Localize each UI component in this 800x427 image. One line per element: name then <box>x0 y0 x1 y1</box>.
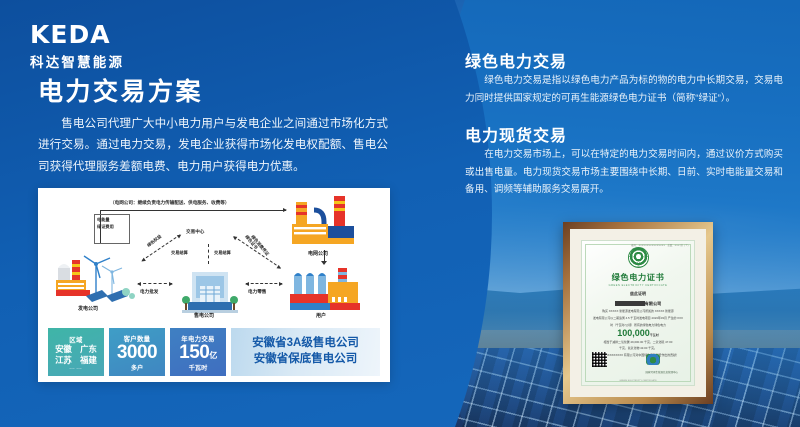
section-heading-green-trading: 绿色电力交易 <box>465 48 567 72</box>
certificate-company-suffix: 有限公司 <box>645 301 662 306</box>
power-trading-diagram: （电网公司：继续负责电力传输配送、供电服务、收费等） 电能量 绿证费用 交易中心… <box>38 188 390 322</box>
certificate-title-en: GREEN ELECTRICITY CERTIFICATE <box>609 284 668 287</box>
diagram-left-note-l2: 绿证费用 <box>97 224 114 229</box>
brand-logo-subtitle: 科达智慧能源 <box>30 51 124 71</box>
stat-credentials-line2: 安徽省保底售电公司 <box>254 352 358 368</box>
diagram-settle-left: 交易结算 <box>171 250 188 255</box>
stat-region-caption: 区域 <box>69 335 82 344</box>
stat-region-line1: 安徽 广东 <box>55 344 97 355</box>
stat-annual-trading: 年电力交易 150亿 千瓦时 <box>170 328 226 376</box>
certificate-seal-icon <box>628 247 649 268</box>
certificate-qr-code-icon <box>592 352 607 367</box>
stat-region-line2: 江苏 福建 <box>55 355 97 366</box>
node-generator-caption: 发电公司 <box>78 305 98 312</box>
certificate-body-line1: 购买 XXXXX 新能源发电有限公司所属的 XXXXX 新能源 <box>586 309 690 313</box>
certificate-footer: GREEN ELECTRICITY CERTIFICATE <box>619 380 656 382</box>
certificate-mat: 编号：XXXXXXXXXXXXXXXX 总量：XXX 份（个） 绿色电力证书 G… <box>570 229 706 397</box>
diagram-retail-label: 电力零售 <box>248 289 266 295</box>
generator-plant-icon <box>56 246 138 302</box>
certificate-company-mask: XXXXXXXXXX <box>615 301 645 306</box>
brand-logo: KEDA 科达智慧能源 <box>30 22 124 71</box>
certificate-subtitle: 兹此证明 <box>630 291 646 297</box>
diagram-settle-right: 交易结算 <box>214 250 231 255</box>
green-certificate-photo: 编号：XXXXXXXXXXXXXXXX 总量：XXX 份（个） 绿色电力证书 G… <box>563 222 713 404</box>
certificate-amount-unit: 千瓦时 <box>650 333 659 337</box>
brand-logo-mark: KEDA <box>30 22 124 47</box>
certificate-frame: 编号：XXXXXXXXXXXXXXXX 总量：XXX 份（个） 绿色电力证书 G… <box>563 222 713 404</box>
certificate-title: 绿色电力证书 <box>612 271 665 283</box>
arrow-to-grid <box>100 210 286 211</box>
stats-band: 区域 安徽 广东 江苏 福建 …… 客户数量 3000 多户 年电力交易 150… <box>48 328 380 376</box>
arrow-wholesale <box>138 283 172 284</box>
certificate-body-line2: 发电有限公司以二期追溯 4.5 千瓦时发电项目 2023年03月 产生的 XXX <box>586 316 690 320</box>
node-grid-caption: 电网公司 <box>308 250 328 257</box>
diagram-center-label: 交易中心 <box>186 229 204 235</box>
stat-region-dots: …… <box>69 365 83 371</box>
certificate-amount-wrap: 100,000千瓦时 <box>617 328 659 338</box>
stat-customers: 客户数量 3000 多户 <box>109 328 165 376</box>
section-heading-spot-trading: 电力现货交易 <box>465 122 567 146</box>
node-retailer-caption: 售电公司 <box>194 312 214 319</box>
slide-canvas: KEDA 科达智慧能源 电力交易方案 售电公司代理广大中小电力用户与发电企业之间… <box>0 0 800 427</box>
stat-credentials-line1: 安徽省3A级售电公司 <box>252 336 359 352</box>
diagram-top-note: （电网公司：继续负责电力传输配送、供电服务、收费等） <box>110 200 229 206</box>
certificate-amount: 100,000 <box>617 328 650 338</box>
section-body-green-trading: 绿色电力交易是指以绿色电力产品为标的物的电力中长期交易，交易电力同时提供国家规定… <box>465 72 783 107</box>
settlement-axis <box>208 244 209 264</box>
certificate-company: XXXXXXXXXX有限公司 <box>615 301 662 307</box>
user-factory-icon <box>288 264 364 312</box>
stat-customers-value: 3000 <box>117 343 157 363</box>
grid-company-icon <box>290 196 360 248</box>
page-title: 电力交易方案 <box>38 72 203 108</box>
retailer-building-icon <box>178 270 242 314</box>
diagram-card: （电网公司：继续负责电力传输配送、供电服务、收费等） 电能量 绿证费用 交易中心… <box>38 188 390 382</box>
section-body-spot-trading: 在电力交易市场上，可以在特定的电力交易时间内，通过议价方式购买或出售电量。电力现… <box>465 146 783 199</box>
diagram-green-left: 绿色权益 <box>146 234 162 248</box>
certificate-issuer-logo-icon <box>646 354 660 365</box>
diagram-left-note-l1: 电能量 <box>97 217 110 222</box>
node-user-caption: 用户 <box>316 312 326 319</box>
stat-region: 区域 安徽 广东 江苏 福建 …… <box>48 328 104 376</box>
certificate-top-note: 编号：XXXXXXXXXXXXXXXX 总量：XXX 份（个） <box>631 243 690 247</box>
stat-annual-value: 150 <box>179 342 209 363</box>
certificate-note-line1: 相当于减排二氧化碳 49,000.00 千克，二氧化硫 47.00 <box>585 340 691 344</box>
certificate-paper: 编号：XXXXXXXXXXXXXXXX 总量：XXX 份（个） 绿色电力证书 G… <box>581 240 695 386</box>
certificate-issuer: 国家可再生能源信息管理中心 <box>645 370 678 374</box>
stat-credentials: KEDA 安徽省3A级售电公司 安徽省保底售电公司 <box>231 328 380 376</box>
stat-annual-suffix: 亿 <box>209 351 217 360</box>
stat-annual-value-wrap: 150亿 <box>179 343 217 363</box>
arrow-retail <box>246 283 282 284</box>
stat-annual-unit: 千瓦时 <box>189 363 208 372</box>
diagram-wholesale-label: 电力批发 <box>140 289 158 295</box>
certificate-note-line2: 千克，氮氧化物 43.00 千克。 <box>585 346 691 350</box>
certificate-body-line3: 时（千瓦时/公顷）所有的绿色电力绿色电力 <box>586 323 690 327</box>
page-intro-paragraph: 售电公司代理广大中小电力用户与发电企业之间通过市场化方式进行交易。通过电力交易，… <box>38 113 388 177</box>
stat-customers-unit: 多户 <box>131 363 143 372</box>
